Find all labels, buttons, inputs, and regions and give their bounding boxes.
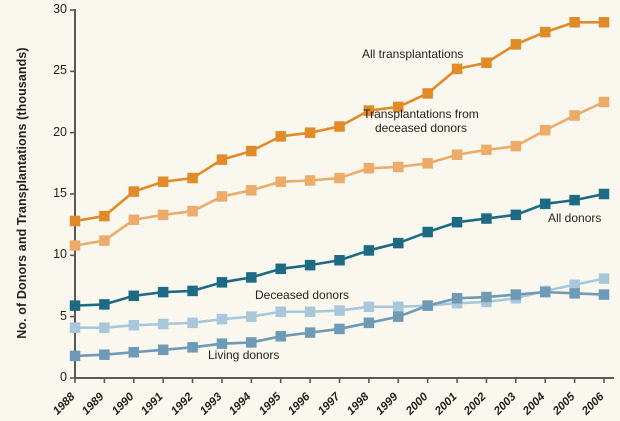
series-marker	[246, 146, 257, 157]
series-marker	[158, 345, 169, 356]
series-marker	[158, 210, 169, 221]
series-line-deceased-donors	[75, 279, 604, 328]
series-marker	[246, 311, 257, 322]
series-marker	[511, 39, 521, 50]
y-tick-label-10: 10	[33, 247, 67, 261]
series-marker	[569, 110, 580, 121]
series-marker	[305, 307, 316, 318]
series-marker	[305, 127, 316, 138]
annotation-all-transplantations: All transplantations	[362, 47, 463, 61]
y-tick-label-15: 15	[33, 186, 67, 200]
series-marker	[422, 158, 433, 169]
series-marker	[452, 217, 463, 228]
series-marker	[393, 302, 404, 313]
series-marker	[275, 264, 286, 275]
series-marker	[569, 195, 580, 206]
series-marker	[99, 322, 110, 333]
series-marker	[246, 337, 257, 348]
series-marker	[452, 64, 463, 75]
series-marker	[364, 163, 375, 174]
series-marker	[422, 300, 433, 311]
series-marker	[481, 213, 492, 224]
series-marker	[217, 277, 228, 288]
series-marker	[511, 289, 521, 300]
series-marker	[334, 324, 345, 335]
series-marker	[246, 272, 257, 283]
series-marker	[129, 320, 140, 331]
annotation-all-donors: All donors	[548, 211, 601, 225]
y-tick-label-0: 0	[33, 370, 67, 384]
series-marker	[70, 216, 81, 227]
series-marker	[70, 322, 81, 333]
series-marker	[129, 215, 140, 226]
series-marker	[540, 27, 551, 38]
series-marker	[187, 286, 198, 297]
series-marker	[422, 227, 433, 238]
series-marker	[334, 305, 345, 316]
series-marker	[129, 291, 140, 302]
series-marker	[99, 235, 110, 246]
series-marker	[305, 260, 316, 271]
series-marker	[217, 314, 228, 325]
annotation-living-donors: Living donors	[208, 348, 279, 362]
y-tick-label-30: 30	[33, 2, 67, 16]
series-marker	[599, 189, 610, 200]
series-marker	[540, 199, 551, 210]
series-marker	[275, 331, 286, 342]
plot-canvas	[0, 0, 620, 421]
series-marker	[393, 311, 404, 322]
series-marker	[481, 292, 492, 303]
series-marker	[158, 176, 169, 187]
series-marker	[364, 245, 375, 256]
series-marker	[334, 121, 345, 132]
series-marker	[540, 125, 551, 135]
series-marker	[599, 17, 610, 28]
y-tick-label-20: 20	[33, 125, 67, 139]
series-marker	[129, 186, 140, 197]
series-marker	[569, 288, 580, 299]
series-marker	[275, 176, 286, 187]
annotation-transplantations-deceased: Transplantations from deceased donors	[363, 107, 479, 135]
series-marker	[158, 319, 169, 330]
series-marker	[187, 206, 198, 217]
series-marker	[511, 141, 521, 152]
series-marker	[187, 318, 198, 329]
series-marker	[393, 162, 404, 173]
series-marker	[99, 349, 110, 360]
series-marker	[481, 58, 492, 69]
series-marker	[599, 273, 610, 284]
series-marker	[70, 240, 81, 251]
series-marker	[599, 289, 610, 300]
series-marker	[99, 299, 110, 310]
series-marker	[393, 238, 404, 249]
series-marker	[70, 300, 81, 311]
series-marker	[187, 173, 198, 184]
series-marker	[599, 97, 610, 108]
series-marker	[452, 150, 463, 161]
series-marker	[275, 131, 286, 142]
series-marker	[540, 287, 551, 298]
series-marker	[99, 211, 110, 222]
series-marker	[364, 302, 375, 313]
series-marker	[246, 185, 257, 196]
series-marker	[129, 347, 140, 358]
series-marker	[70, 351, 81, 362]
series-marker	[187, 342, 198, 353]
series-marker	[305, 327, 316, 338]
y-tick-label-5: 5	[33, 309, 67, 323]
y-tick-label-25: 25	[33, 63, 67, 77]
series-marker	[305, 175, 316, 186]
series-marker	[217, 191, 228, 202]
series-marker	[158, 287, 169, 298]
series-marker	[481, 145, 492, 156]
series-marker	[275, 307, 286, 318]
annotation-deceased-donors: Deceased donors	[255, 288, 349, 302]
series-marker	[569, 17, 580, 28]
series-marker	[422, 88, 433, 99]
series-marker	[217, 154, 228, 165]
series-marker	[334, 173, 345, 184]
series-marker	[511, 210, 521, 221]
series-marker	[364, 318, 375, 329]
series-marker	[452, 293, 463, 304]
chart-root: No. of Donors and Transplantations (thou…	[0, 0, 620, 421]
series-marker	[334, 255, 345, 265]
